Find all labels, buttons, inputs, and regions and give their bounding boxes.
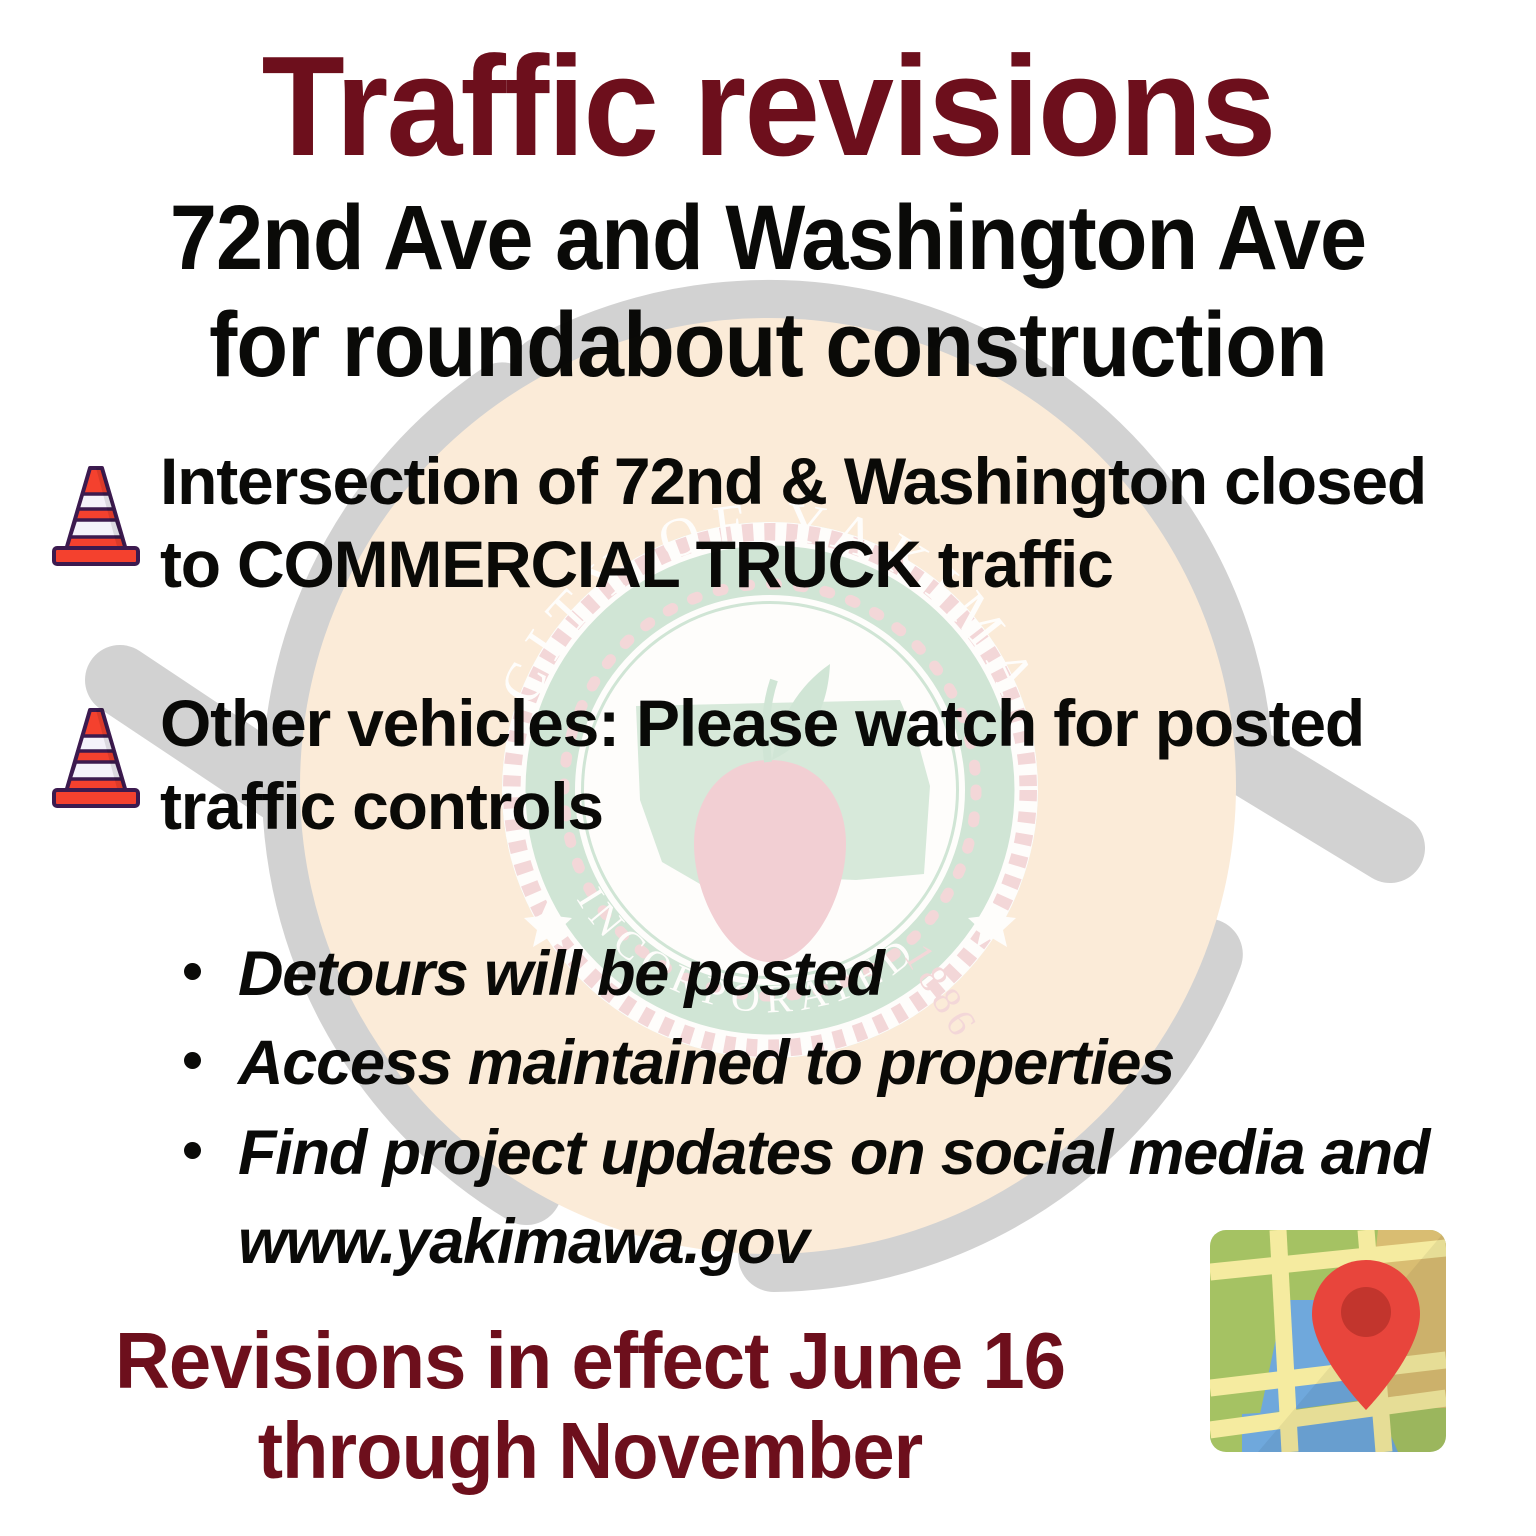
- list-item: Detours will be posted: [172, 930, 1496, 1019]
- traffic-cone-icon: [46, 458, 146, 570]
- list-item-label: Access maintained to properties: [238, 1028, 1174, 1098]
- bullet-dot-icon: [184, 1052, 201, 1069]
- effective-dates-text: Revisions in effect June 16 through Nove…: [87, 1316, 1094, 1495]
- notice-text: Intersection of 72nd & Washington closed…: [160, 440, 1502, 606]
- traffic-revisions-poster: CITY OF YAKIMA INCORPORATED 1886 Traffic…: [0, 0, 1536, 1536]
- notice-text: Other vehicles: Please watch for posted …: [160, 682, 1502, 848]
- notice-row-commercial-truck: Intersection of 72nd & Washington closed…: [46, 440, 1502, 606]
- traffic-cone-icon: [46, 700, 146, 812]
- subtitle-line-1: 72nd Ave and Washington Ave: [61, 185, 1474, 292]
- footer-line-2: through November: [87, 1406, 1094, 1496]
- notice-row-other-vehicles: Other vehicles: Please watch for posted …: [46, 682, 1502, 848]
- map-with-pin-icon: [1198, 1218, 1470, 1490]
- page-title: Traffic revisions: [31, 36, 1506, 178]
- list-item-label: Detours will be posted: [238, 939, 884, 1009]
- page-subtitle: 72nd Ave and Washington Ave for roundabo…: [61, 185, 1474, 398]
- footer-line-1: Revisions in effect June 16: [87, 1316, 1094, 1406]
- bullet-dot-icon: [184, 963, 201, 980]
- bullet-dot-icon: [184, 1142, 201, 1159]
- list-item: Access maintained to properties: [172, 1019, 1496, 1108]
- subtitle-line-2: for roundabout construction: [61, 292, 1474, 399]
